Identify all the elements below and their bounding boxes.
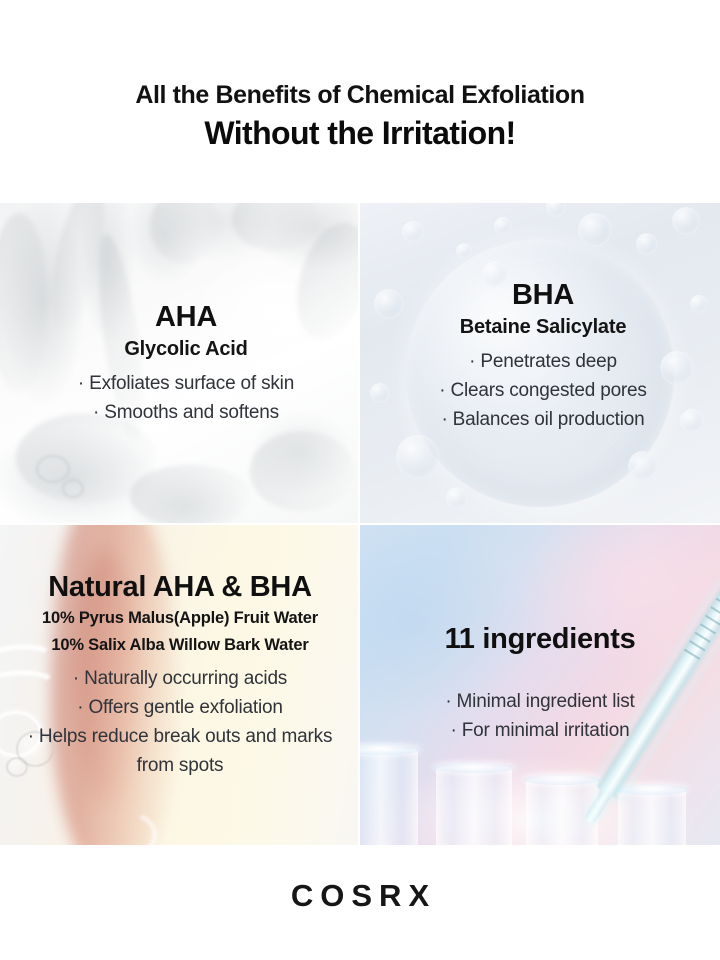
bubble-icon xyxy=(672,207,700,235)
natural-title: Natural AHA & BHA xyxy=(8,569,352,605)
bha-benefit-item: · Balances oil production xyxy=(382,405,704,434)
natural-benefit-item: · Offers gentle exfoliation xyxy=(8,693,352,722)
bha-title: BHA xyxy=(382,277,704,313)
ingredients-benefit-item: · For minimal irritation xyxy=(378,716,702,745)
gel-ring-icon xyxy=(36,455,70,483)
bha-benefit-item: · Clears congested pores xyxy=(382,376,704,405)
headline-line-2: Without the Irritation! xyxy=(0,112,720,154)
bha-benefit-item: · Penetrates deep xyxy=(382,347,704,376)
bha-subtitle: Betaine Salicylate xyxy=(382,313,704,342)
bubble-icon xyxy=(396,435,440,479)
bubble-icon xyxy=(578,213,612,247)
headline-line-1: All the Benefits of Chemical Exfoliation xyxy=(0,78,720,112)
natural-benefit-item: · Helps reduce break outs and marks from… xyxy=(8,722,352,780)
ingredients-text-block: 11 ingredients · Minimal ingredient list… xyxy=(378,621,702,745)
panel-natural-aha-bha: Natural AHA & BHA 10% Pyrus Malus(Apple)… xyxy=(0,525,358,845)
cosrx-logo: COSRX xyxy=(284,878,436,914)
natural-subtitle-1: 10% Pyrus Malus(Apple) Fruit Water xyxy=(8,605,352,632)
bubble-icon xyxy=(628,451,658,481)
panel-ingredients: 11 ingredients · Minimal ingredient list… xyxy=(360,525,720,845)
gel-streak-icon xyxy=(150,203,220,263)
bubble-icon xyxy=(494,217,512,235)
natural-subtitle-2: 10% Salix Alba Willow Bark Water xyxy=(8,632,352,659)
glass-vial-icon xyxy=(360,749,418,845)
gel-streak-icon xyxy=(250,431,354,511)
glass-vial-icon xyxy=(436,767,512,845)
bubble-icon xyxy=(546,203,566,217)
bha-text-block: BHA Betaine Salicylate · Penetrates deep… xyxy=(382,277,704,434)
bubble-icon xyxy=(636,233,658,255)
aha-benefit-item: · Smooths and softens xyxy=(18,398,354,427)
panel-bha: BHA Betaine Salicylate · Penetrates deep… xyxy=(360,203,720,523)
footer: COSRX xyxy=(0,878,720,914)
bubble-icon xyxy=(446,487,468,509)
aha-benefit-item: · Exfoliates surface of skin xyxy=(18,369,354,398)
gel-streak-icon xyxy=(130,465,250,523)
benefits-grid: AHA Glycolic Acid · Exfoliates surface o… xyxy=(0,203,720,845)
bubble-icon xyxy=(456,243,472,259)
gel-ring-icon xyxy=(62,479,84,498)
ingredients-title: 11 ingredients xyxy=(378,621,702,657)
glass-vial-icon xyxy=(618,789,686,845)
natural-benefit-item: · Naturally occurring acids xyxy=(8,664,352,693)
infographic-page: All the Benefits of Chemical Exfoliation… xyxy=(0,0,720,960)
ingredients-benefit-item: · Minimal ingredient list xyxy=(378,687,702,716)
panel-aha: AHA Glycolic Acid · Exfoliates surface o… xyxy=(0,203,358,523)
header: All the Benefits of Chemical Exfoliation… xyxy=(0,78,720,154)
aha-title: AHA xyxy=(18,299,354,335)
natural-text-block: Natural AHA & BHA 10% Pyrus Malus(Apple)… xyxy=(8,569,352,780)
aha-text-block: AHA Glycolic Acid · Exfoliates surface o… xyxy=(18,299,354,427)
bubble-icon xyxy=(402,221,424,243)
aha-subtitle: Glycolic Acid xyxy=(18,335,354,364)
gel-streak-icon xyxy=(232,203,318,251)
